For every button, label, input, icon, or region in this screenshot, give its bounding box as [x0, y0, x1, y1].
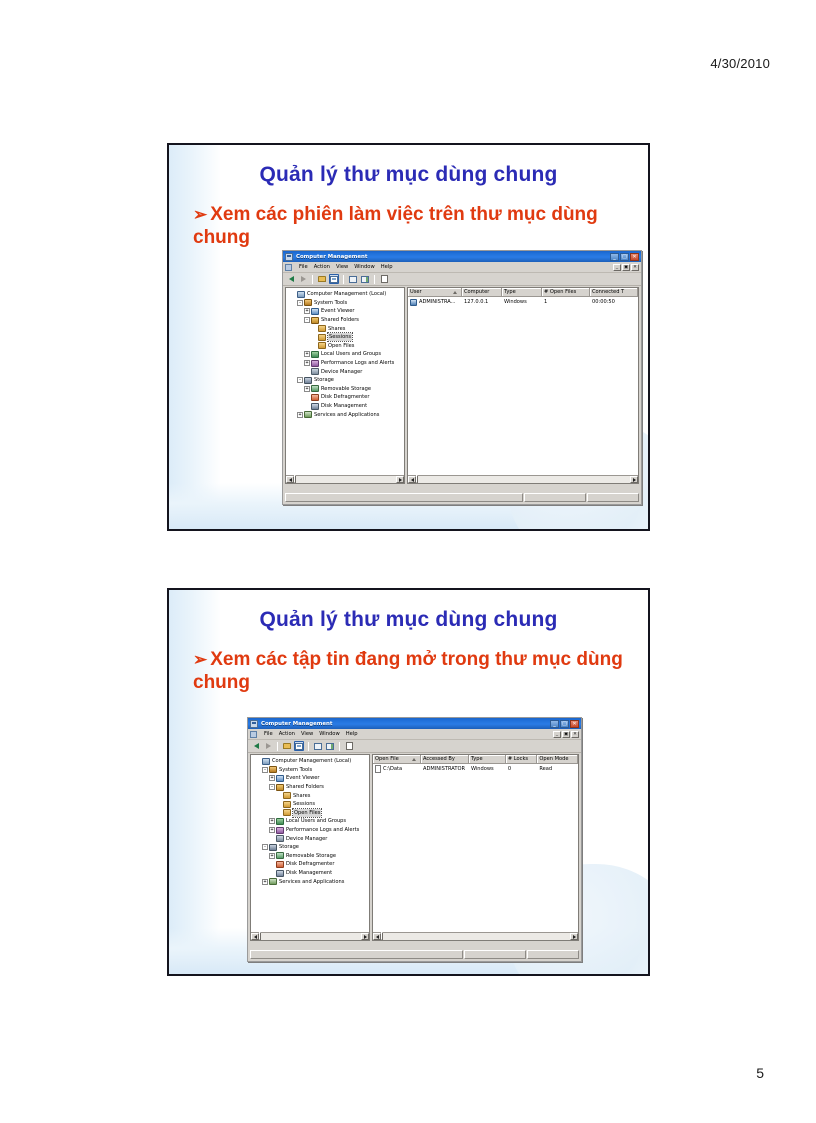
scroll-left-button[interactable] — [251, 933, 259, 940]
cell-accessed-by: ADMINISTRATOR — [421, 766, 469, 772]
tree-item-disk-defragmenter[interactable]: Disk Defragmenter — [253, 860, 369, 869]
folder-icon — [318, 342, 326, 349]
tree-item-local-users-and-groups[interactable]: + Local Users and Groups — [253, 817, 369, 826]
tree-item-shares[interactable]: Shares — [253, 791, 369, 800]
tree-item-local-users-and-groups[interactable]: + Local Users and Groups — [288, 350, 404, 359]
tree-item-label: Services and Applications — [314, 411, 379, 419]
tree-item-label: Performance Logs and Alerts — [286, 826, 359, 834]
window-title: Computer Management — [296, 254, 367, 260]
tree-expander[interactable]: - — [296, 300, 304, 306]
tree-item-disk-management[interactable]: Disk Management — [288, 402, 404, 411]
tree-item-label: Disk Management — [321, 402, 367, 410]
tree-item-sessions[interactable]: Sessions — [253, 800, 369, 809]
sort-ascending-icon — [453, 291, 457, 294]
scroll-right-button[interactable] — [361, 933, 369, 940]
tree-expander[interactable]: + — [303, 308, 311, 314]
help-icon[interactable] — [379, 274, 389, 284]
statusbar-panel-2 — [587, 493, 639, 502]
console-tree-pane[interactable]: Computer Management (Local) - System Too… — [250, 754, 370, 941]
tree-item-event-viewer[interactable]: + Event Viewer — [253, 774, 369, 783]
tree-item-storage[interactable]: - Storage — [253, 843, 369, 852]
slide-title: Quản lý thư mục dùng chung — [169, 163, 648, 187]
tree-item-label: Open Files — [293, 809, 321, 817]
tree-item-label: Computer Management (Local) — [272, 757, 351, 765]
mdi-minimize-button[interactable]: _ — [553, 731, 561, 738]
tree-item-label: Computer Management (Local) — [307, 290, 386, 298]
tree-item-device-manager[interactable]: Device Manager — [253, 834, 369, 843]
users-icon — [311, 351, 319, 358]
toolbar-separator — [374, 275, 375, 284]
refresh-icon[interactable] — [348, 274, 358, 284]
scroll-thumb[interactable] — [381, 932, 383, 940]
tree-item-label: Shared Folders — [321, 316, 359, 324]
menu-item-window[interactable]: Window — [319, 731, 339, 737]
storage-icon — [269, 844, 277, 851]
cell-text: C:\Data — [383, 766, 402, 772]
tree-item-label: Shared Folders — [286, 783, 324, 791]
tree-item-system-tools[interactable]: - System Tools — [253, 766, 369, 775]
bullet-text: Xem các phiên làm việc trên thư mục dùng… — [193, 204, 598, 248]
mdi-controls: _▣✕ — [613, 264, 639, 271]
mdi-minimize-button[interactable]: _ — [613, 264, 621, 271]
column-header-label: User — [410, 289, 422, 295]
show-hide-tree-icon[interactable] — [329, 274, 339, 284]
shared-folders-icon — [276, 784, 284, 791]
cell-user: ADMINISTRA... — [408, 299, 462, 306]
toolbar — [248, 740, 581, 753]
tree-item-label: Storage — [314, 376, 334, 384]
users-icon — [276, 818, 284, 825]
scroll-track[interactable] — [259, 933, 361, 940]
mdi-document-icon — [250, 731, 257, 738]
folder-icon — [283, 801, 291, 808]
window-controls: _□✕ — [550, 720, 579, 728]
folder-icon — [283, 809, 291, 816]
system-tools-icon — [269, 766, 277, 773]
up-folder-icon[interactable] — [282, 741, 292, 751]
table-row[interactable]: C:\DataADMINISTRATORWindows0Read — [373, 764, 578, 774]
window-minimize-button[interactable]: _ — [610, 253, 619, 261]
slide-bullet: ➢Xem các tập tin đang mở trong thư mục d… — [193, 648, 628, 694]
statusbar-panel-1 — [464, 950, 526, 959]
page-number: 5 — [756, 1065, 764, 1081]
disk-defragmenter-icon — [311, 394, 319, 401]
tree-item-label: Open Files — [328, 342, 354, 350]
menubar: FileActionViewWindowHelp _▣✕ — [283, 262, 641, 273]
tree-item-device-manager[interactable]: Device Manager — [288, 367, 404, 376]
column-header-label: Computer — [464, 289, 489, 295]
back-arrow-icon[interactable] — [251, 741, 261, 751]
menu-item-file[interactable]: File — [299, 264, 308, 270]
tree-item-label: Shares — [293, 792, 310, 800]
tree-item-label: Event Viewer — [286, 774, 320, 782]
back-arrow-icon[interactable] — [286, 274, 296, 284]
statusbar-panel-1 — [524, 493, 586, 502]
slide-2: Quản lý thư mục dùng chung ➢Xem các tập … — [167, 588, 650, 976]
computer-icon — [262, 758, 270, 765]
window-close-button[interactable]: ✕ — [570, 720, 579, 728]
column-header-label: Open Mode — [539, 756, 568, 762]
mdi-controls: _▣✕ — [553, 731, 579, 738]
tree-item-label: System Tools — [314, 299, 347, 307]
menu-item-file[interactable]: File — [264, 731, 273, 737]
menubar: FileActionViewWindowHelp _▣✕ — [248, 729, 581, 740]
sort-ascending-icon — [412, 758, 416, 761]
column-header-accessed-by[interactable]: Accessed By — [421, 755, 469, 763]
cell-open-mode: Read — [537, 766, 578, 772]
cell--locks: 0 — [506, 766, 537, 772]
window-titlebar[interactable]: Computer Management _□✕ — [248, 718, 581, 729]
scroll-left-button[interactable] — [286, 476, 294, 483]
mdi-restore-button[interactable]: ▣ — [562, 731, 570, 738]
tree-item-removable-storage[interactable]: + Removable Storage — [253, 852, 369, 861]
tree-expander[interactable]: + — [268, 818, 276, 824]
help-icon[interactable] — [344, 741, 354, 751]
tree-item-performance-logs-and-alerts[interactable]: + Performance Logs and Alerts — [288, 359, 404, 368]
scroll-right-button[interactable] — [570, 933, 578, 940]
mdi-document-icon — [285, 264, 292, 271]
toolbar-separator — [343, 275, 344, 284]
disk-management-icon — [276, 870, 284, 877]
bullet-arrow-icon: ➢ — [193, 650, 207, 669]
computer-icon — [285, 253, 293, 261]
tree-item-open-files[interactable]: Open Files — [288, 342, 404, 351]
export-list-icon[interactable] — [360, 274, 370, 284]
event-viewer-icon — [276, 775, 284, 782]
window-maximize-button[interactable]: □ — [620, 253, 629, 261]
tree-expander[interactable]: + — [303, 360, 311, 366]
computer-icon — [297, 291, 305, 298]
folder-icon — [318, 334, 326, 341]
column-header-type[interactable]: Type — [502, 288, 542, 296]
column-header-label: Type — [471, 756, 483, 762]
tree-item-services-and-applications[interactable]: + Services and Applications — [288, 410, 404, 419]
forward-arrow-icon[interactable] — [298, 274, 308, 284]
menu-item-action[interactable]: Action — [314, 264, 330, 270]
refresh-icon[interactable] — [313, 741, 323, 751]
details-list-pane[interactable]: UserComputerType# Open FilesConnected T … — [407, 287, 639, 484]
tree-item-label: Device Manager — [286, 835, 327, 843]
tree-expander[interactable]: - — [268, 784, 276, 790]
computer-management-window[interactable]: Computer Management _□✕ FileActionViewWi… — [282, 250, 642, 505]
toolbar — [283, 273, 641, 286]
mdi-close-button[interactable]: ✕ — [571, 731, 579, 738]
folder-icon — [318, 325, 326, 332]
console-tree-pane[interactable]: Computer Management (Local) - System Too… — [285, 287, 405, 484]
statusbar-panel-main — [250, 950, 463, 959]
tree-item-storage[interactable]: - Storage — [288, 376, 404, 385]
tree-expander[interactable]: + — [268, 775, 276, 781]
cell-type: Windows — [469, 766, 506, 772]
tree-item-label: Device Manager — [321, 368, 362, 376]
cell-computer: 127.0.0.1 — [462, 299, 502, 305]
tree-item-system-tools[interactable]: - System Tools — [288, 299, 404, 308]
show-hide-tree-icon[interactable] — [294, 741, 304, 751]
statusbar — [250, 950, 579, 959]
tree-item-label: Local Users and Groups — [321, 350, 381, 358]
window-minimize-button[interactable]: _ — [550, 720, 559, 728]
scroll-track[interactable] — [416, 476, 630, 483]
window-body: Computer Management (Local) - System Too… — [285, 287, 639, 484]
tree-item-label: Event Viewer — [321, 307, 355, 315]
slide-title: Quản lý thư mục dùng chung — [169, 608, 648, 632]
forward-arrow-icon[interactable] — [263, 741, 273, 751]
tree-item-sessions[interactable]: Sessions — [288, 333, 404, 342]
column-header-locks[interactable]: # Locks — [506, 755, 537, 763]
window-close-button[interactable]: ✕ — [630, 253, 639, 261]
statusbar-panel-main — [285, 493, 523, 502]
list-horizontal-scrollbar[interactable] — [408, 475, 638, 483]
tree-item-services-and-applications[interactable]: + Services and Applications — [253, 877, 369, 886]
scroll-thumb[interactable] — [259, 932, 261, 940]
disk-defragmenter-icon — [276, 861, 284, 868]
cell-type: Windows — [502, 299, 542, 305]
tree-item-computer-management-local[interactable]: Computer Management (Local) — [288, 290, 404, 299]
table-row[interactable]: ADMINISTRA...127.0.0.1Windows100:00:50 — [408, 297, 638, 307]
scroll-thumb[interactable] — [416, 475, 418, 483]
services-icon — [304, 411, 312, 418]
tree-expander[interactable]: + — [303, 351, 311, 357]
scroll-thumb[interactable] — [294, 475, 296, 483]
column-header-open-file[interactable]: Open File — [373, 755, 421, 763]
user-icon — [410, 299, 417, 306]
scroll-left-button[interactable] — [408, 476, 416, 483]
removable-storage-icon — [311, 385, 319, 392]
column-header-user[interactable]: User — [408, 288, 462, 296]
column-header-label: Type — [504, 289, 516, 295]
system-tools-icon — [304, 299, 312, 306]
storage-icon — [304, 377, 312, 384]
event-viewer-icon — [311, 308, 319, 315]
mdi-close-button[interactable]: ✕ — [631, 264, 639, 271]
toolbar-separator — [312, 275, 313, 284]
tree-expander[interactable]: + — [261, 879, 269, 885]
tree-item-label: Disk Management — [286, 869, 332, 877]
shared-folders-icon — [311, 317, 319, 324]
details-list-pane[interactable]: Open FileAccessed ByType# LocksOpen Mode… — [372, 754, 579, 941]
tree-item-label: Disk Defragmenter — [321, 393, 369, 401]
tree-item-label: Services and Applications — [279, 878, 344, 886]
tree-expander[interactable]: + — [296, 412, 304, 418]
list-column-headers: Open FileAccessed ByType# LocksOpen Mode — [373, 755, 578, 764]
tree-item-event-viewer[interactable]: + Event Viewer — [288, 307, 404, 316]
tree-horizontal-scrollbar[interactable] — [251, 932, 369, 940]
tree-item-computer-management-local[interactable]: Computer Management (Local) — [253, 757, 369, 766]
window-controls: _□✕ — [610, 253, 639, 261]
tree-item-label: Sessions — [293, 800, 315, 808]
tree-expander[interactable]: + — [268, 853, 276, 859]
performance-icon — [311, 360, 319, 367]
statusbar-panel-2 — [527, 950, 579, 959]
computer-icon — [250, 720, 258, 728]
cell--open-files: 1 — [542, 299, 590, 305]
tree-item-disk-defragmenter[interactable]: Disk Defragmenter — [288, 393, 404, 402]
tree-item-disk-management[interactable]: Disk Management — [253, 869, 369, 878]
tree-item-label: Local Users and Groups — [286, 817, 346, 825]
tree-item-label: Shares — [328, 325, 345, 333]
toolbar-separator — [308, 742, 309, 751]
tree-expander[interactable]: + — [303, 386, 311, 392]
tree-expander[interactable]: - — [303, 317, 311, 323]
cell-open-file: C:\Data — [373, 765, 421, 773]
column-header-connected-t[interactable]: Connected T — [590, 288, 638, 296]
column-header-type[interactable]: Type — [469, 755, 506, 763]
tree-expander[interactable]: - — [296, 377, 304, 383]
file-icon — [375, 765, 381, 773]
tree-item-label: Removable Storage — [286, 852, 336, 860]
tree-item-performance-logs-and-alerts[interactable]: + Performance Logs and Alerts — [253, 826, 369, 835]
toolbar-separator — [277, 742, 278, 751]
tree-item-label: Performance Logs and Alerts — [321, 359, 394, 367]
column-header-label: Connected T — [592, 289, 624, 295]
tree-item-label: Storage — [279, 843, 299, 851]
window-titlebar[interactable]: Computer Management _□✕ — [283, 251, 641, 262]
statusbar — [285, 493, 639, 502]
list-horizontal-scrollbar[interactable] — [373, 932, 578, 940]
scroll-track[interactable] — [381, 933, 570, 940]
column-header-label: Open File — [375, 756, 399, 762]
column-header-open-files[interactable]: # Open Files — [542, 288, 590, 296]
mdi-restore-button[interactable]: ▣ — [622, 264, 630, 271]
services-icon — [269, 878, 277, 885]
tree-expander[interactable]: + — [268, 827, 276, 833]
column-header-label: # Locks — [508, 756, 528, 762]
tree-item-open-files[interactable]: Open Files — [253, 809, 369, 818]
cell-connected-t: 00:00:50 — [590, 299, 638, 305]
folder-icon — [283, 792, 291, 799]
column-header-label: # Open Files — [544, 289, 576, 295]
toolbar-separator — [339, 742, 340, 751]
tree-expander[interactable]: - — [261, 844, 269, 850]
computer-management-window[interactable]: Computer Management _□✕ FileActionViewWi… — [247, 717, 582, 962]
device-manager-icon — [276, 835, 284, 842]
bullet-arrow-icon: ➢ — [193, 205, 207, 224]
window-body: Computer Management (Local) - System Too… — [250, 754, 579, 941]
page-date: 4/30/2010 — [710, 56, 770, 71]
tree-horizontal-scrollbar[interactable] — [286, 475, 404, 483]
tree-item-label: System Tools — [279, 766, 312, 774]
tree-item-shared-folders[interactable]: - Shared Folders — [288, 316, 404, 325]
scroll-track[interactable] — [294, 476, 396, 483]
tree-item-removable-storage[interactable]: + Removable Storage — [288, 385, 404, 394]
cell-text: ADMINISTRA... — [419, 299, 456, 305]
tree-item-shared-folders[interactable]: - Shared Folders — [253, 783, 369, 792]
bullet-text: Xem các tập tin đang mở trong thư mục dù… — [193, 649, 623, 693]
tree-expander[interactable]: - — [261, 767, 269, 773]
tree-item-label: Removable Storage — [321, 385, 371, 393]
menu-item-help[interactable]: Help — [381, 264, 393, 270]
window-maximize-button[interactable]: □ — [560, 720, 569, 728]
slide-bullet: ➢Xem các phiên làm việc trên thư mục dùn… — [193, 203, 628, 249]
column-header-computer[interactable]: Computer — [462, 288, 502, 296]
menu-item-window[interactable]: Window — [354, 264, 374, 270]
tree-item-label: Sessions — [328, 333, 352, 341]
column-header-label: Accessed By — [423, 756, 455, 762]
menu-item-action[interactable]: Action — [279, 731, 295, 737]
up-folder-icon[interactable] — [317, 274, 327, 284]
device-manager-icon — [311, 368, 319, 375]
menu-item-help[interactable]: Help — [346, 731, 358, 737]
tree-item-shares[interactable]: Shares — [288, 324, 404, 333]
disk-management-icon — [311, 403, 319, 410]
export-list-icon[interactable] — [325, 741, 335, 751]
list-column-headers: UserComputerType# Open FilesConnected T — [408, 288, 638, 297]
slide-1: Quản lý thư mục dùng chung ➢Xem các phiê… — [167, 143, 650, 531]
menu-item-view[interactable]: View — [301, 731, 313, 737]
window-title: Computer Management — [261, 721, 332, 727]
scroll-right-button[interactable] — [630, 476, 638, 483]
tree-item-label: Disk Defragmenter — [286, 860, 334, 868]
menu-item-view[interactable]: View — [336, 264, 348, 270]
removable-storage-icon — [276, 852, 284, 859]
scroll-left-button[interactable] — [373, 933, 381, 940]
column-header-open-mode[interactable]: Open Mode — [537, 755, 578, 763]
scroll-right-button[interactable] — [396, 476, 404, 483]
performance-icon — [276, 827, 284, 834]
